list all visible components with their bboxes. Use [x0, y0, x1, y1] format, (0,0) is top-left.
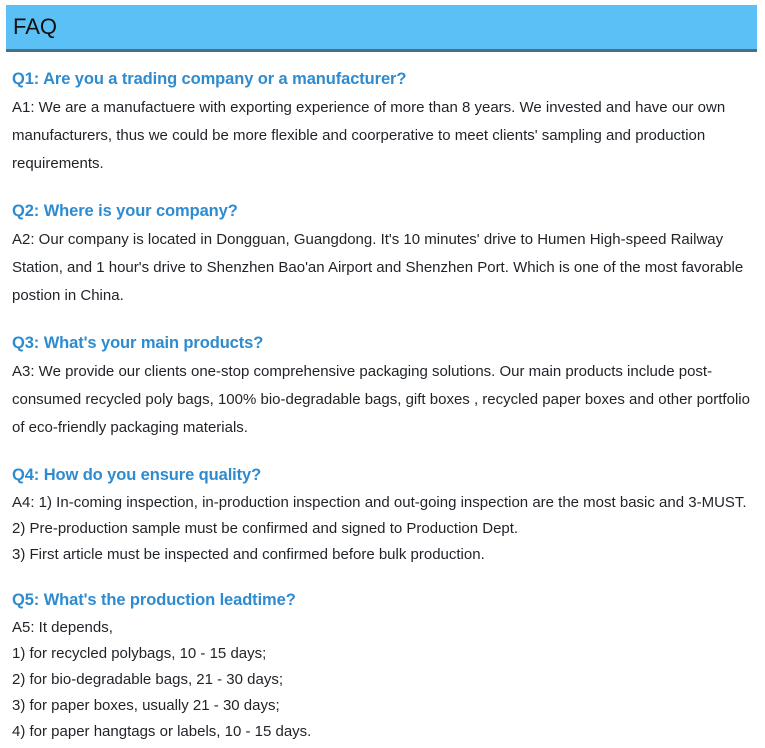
faq-question-3: Q3: What's your main products? — [12, 332, 752, 354]
faq-question-2: Q2: Where is your company? — [12, 200, 752, 222]
faq-answer-1: A1: We are a manufactuere with exporting… — [12, 94, 752, 178]
faq-answer-5: A5: It depends, 1) for recycled polybags… — [12, 615, 752, 745]
faq-answer-5-line-4: 3) for paper boxes, usually 21 - 30 days… — [12, 693, 752, 719]
faq-answer-5-line-2: 1) for recycled polybags, 10 - 15 days; — [12, 641, 752, 667]
faq-header-bar: FAQ — [6, 5, 757, 52]
faq-answer-2: A2: Our company is located in Dongguan, … — [12, 226, 752, 310]
faq-question-4: Q4: How do you ensure quality? — [12, 464, 752, 486]
faq-item-5: Q5: What's the production leadtime? A5: … — [12, 589, 752, 745]
faq-item-3: Q3: What's your main products? A3: We pr… — [12, 332, 752, 442]
faq-item-4: Q4: How do you ensure quality? A4: 1) In… — [12, 464, 752, 568]
faq-answer-4: A4: 1) In-coming inspection, in-producti… — [12, 490, 752, 568]
faq-answer-4-line-2: 2) Pre-production sample must be confirm… — [12, 516, 752, 542]
faq-question-5: Q5: What's the production leadtime? — [12, 589, 752, 611]
page-title: FAQ — [13, 12, 57, 42]
faq-answer-3: A3: We provide our clients one-stop comp… — [12, 358, 752, 442]
faq-answer-5-line-3: 2) for bio-degradable bags, 21 - 30 days… — [12, 667, 752, 693]
faq-answer-5-line-1: A5: It depends, — [12, 615, 752, 641]
faq-item-2: Q2: Where is your company? A2: Our compa… — [12, 200, 752, 310]
faq-answer-4-line-1: A4: 1) In-coming inspection, in-producti… — [12, 490, 752, 516]
faq-answer-5-line-5: 4) for paper hangtags or labels, 10 - 15… — [12, 719, 752, 745]
faq-answer-4-line-3: 3) First article must be inspected and c… — [12, 542, 752, 568]
faq-page: FAQ Q1: Are you a trading company or a m… — [0, 0, 765, 748]
faq-item-1: Q1: Are you a trading company or a manuf… — [12, 68, 752, 178]
faq-list: Q1: Are you a trading company or a manuf… — [12, 68, 752, 745]
faq-question-1: Q1: Are you a trading company or a manuf… — [12, 68, 752, 90]
